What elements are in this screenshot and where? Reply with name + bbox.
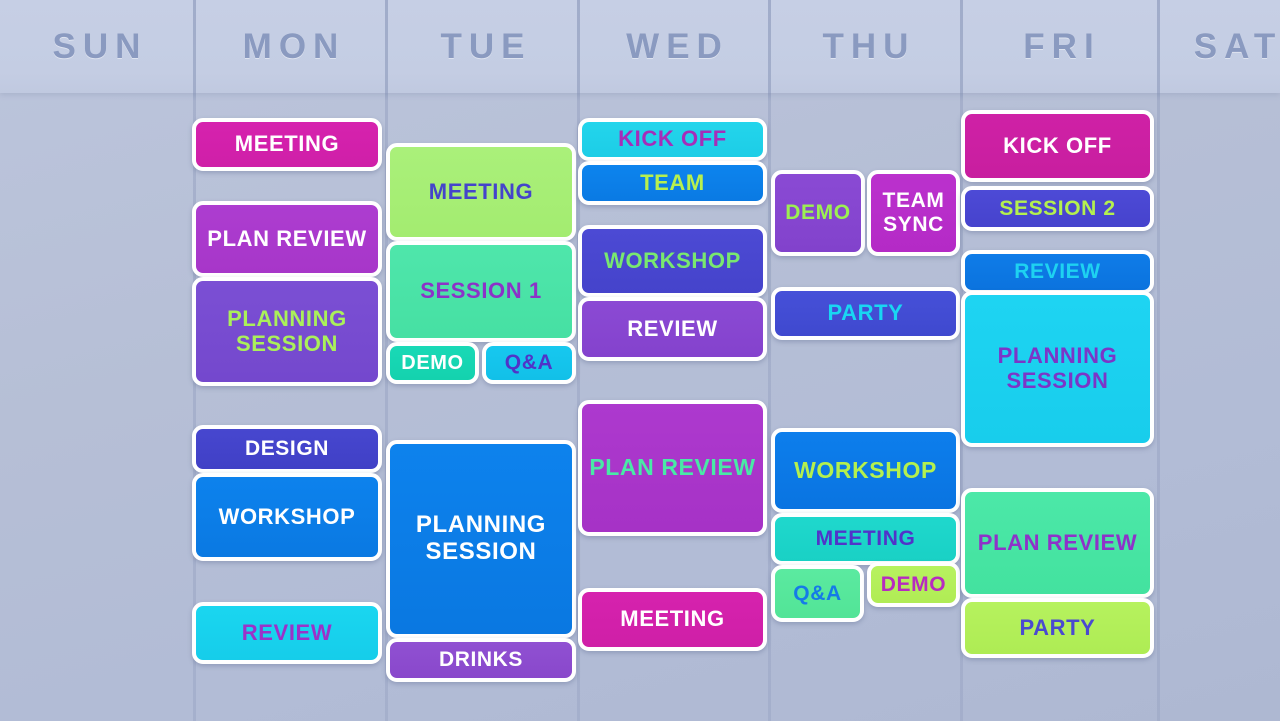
event-card[interactable]: PLANNING SESSION [961,291,1154,447]
event-label: MEETING [395,180,567,205]
event-card[interactable]: DRINKS [386,638,576,682]
event-label: MEETING [587,607,758,632]
event-card[interactable]: KICK OFF [578,118,767,161]
event-label: MEETING [780,527,951,551]
event-card[interactable]: PARTY [961,598,1154,658]
event-card[interactable]: PLAN REVIEW [961,488,1154,598]
event-label: TEAM [587,171,758,196]
day-header-mon[interactable]: MON [196,0,385,93]
event-label: SESSION 2 [970,197,1145,221]
event-label: DEMO [780,201,856,225]
event-label: KICK OFF [587,127,758,152]
day-header-sun[interactable]: SUN [0,0,193,93]
event-label: PLANNING SESSION [395,512,567,566]
event-card[interactable]: WORKSHOP [578,225,767,297]
day-header-sat[interactable]: SAT [1157,0,1280,93]
event-card[interactable]: MEETING [771,513,960,565]
event-card[interactable]: PLAN REVIEW [192,201,382,277]
event-card[interactable]: PLANNING SESSION [386,440,576,638]
event-label: MEETING [201,132,373,157]
event-label: PARTY [970,616,1145,641]
day-header-wed[interactable]: WED [580,0,768,93]
event-label: PARTY [780,301,951,326]
event-card[interactable]: PARTY [771,287,960,340]
event-label: Q&A [491,351,567,375]
day-header-fri[interactable]: FRI [963,0,1154,93]
event-card[interactable]: REVIEW [961,250,1154,294]
event-label: WORKSHOP [780,458,951,484]
event-card[interactable]: SESSION 1 [386,241,576,342]
event-label: PLAN REVIEW [587,455,758,481]
event-card[interactable]: REVIEW [192,602,382,664]
week-calendar: SUNMONTUEWEDTHUFRISAT MEETINGPLAN REVIEW… [0,0,1280,721]
event-card[interactable]: WORKSHOP [192,473,382,561]
event-label: REVIEW [201,621,373,646]
event-card[interactable]: SESSION 2 [961,186,1154,231]
event-card[interactable]: DEMO [771,170,865,256]
event-card[interactable]: Q&A [482,342,576,384]
day-header-thu[interactable]: THU [771,0,960,93]
event-label: WORKSHOP [201,505,373,530]
event-card[interactable]: Q&A [771,565,864,622]
event-label: PLANNING SESSION [970,344,1145,393]
event-label: KICK OFF [970,134,1145,159]
event-label: SESSION 1 [395,279,567,304]
event-label: REVIEW [587,317,758,342]
event-card[interactable]: PLAN REVIEW [578,400,767,536]
event-label: WORKSHOP [587,249,758,274]
event-card[interactable]: DEMO [867,562,960,607]
day-header-tue[interactable]: TUE [388,0,577,93]
event-label: PLANNING SESSION [201,307,373,356]
calendar-day-header: SUNMONTUEWEDTHUFRISAT [0,0,1280,93]
event-card[interactable]: DESIGN [192,425,382,473]
event-card[interactable]: MEETING [192,118,382,171]
event-card[interactable]: TEAM [578,161,767,205]
event-card[interactable]: TEAM SYNC [867,170,960,256]
event-label: PLAN REVIEW [970,531,1145,556]
event-card[interactable]: DEMO [386,342,479,384]
event-label: REVIEW [970,260,1145,284]
event-card[interactable]: MEETING [386,143,576,241]
event-card[interactable]: MEETING [578,588,767,651]
event-label: DEMO [395,352,470,374]
event-label: PLAN REVIEW [201,227,373,252]
event-label: DEMO [876,573,951,597]
event-card[interactable]: KICK OFF [961,110,1154,182]
event-card[interactable]: REVIEW [578,297,767,361]
event-label: DESIGN [201,437,373,461]
event-label: DRINKS [395,648,567,672]
event-card[interactable]: PLANNING SESSION [192,277,382,386]
event-label: TEAM SYNC [876,189,951,236]
event-card[interactable]: WORKSHOP [771,428,960,513]
event-label: Q&A [780,582,855,606]
column-divider-5 [1157,0,1160,721]
